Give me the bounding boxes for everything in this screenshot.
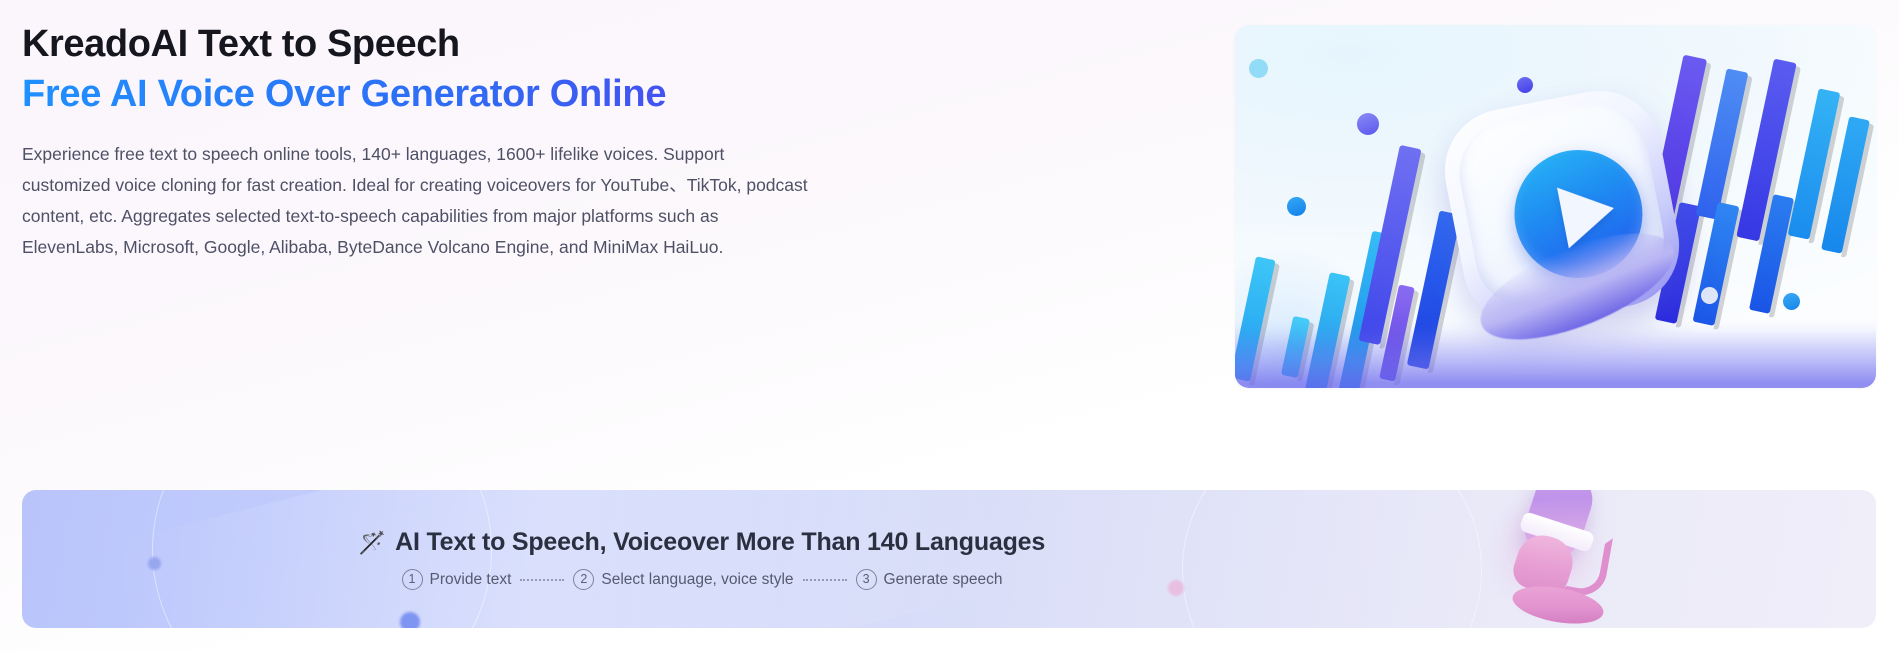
step-item-1: 1 Provide text [402, 569, 512, 590]
mic-head [1518, 490, 1600, 563]
step-number-2: 2 [573, 569, 594, 590]
languages-banner: 🪄 AI Text to Speech, Voiceover More Than… [22, 490, 1876, 628]
step-item-3: 3 Generate speech [856, 569, 1003, 590]
step-label-2: Select language, voice style [601, 571, 793, 589]
mic-body [1509, 529, 1580, 600]
decorative-dot [1517, 77, 1533, 93]
hero-copy: KreadoAI Text to Speech Free AI Voice Ov… [22, 22, 1172, 263]
step-number-1: 1 [402, 569, 423, 590]
decorative-dot [1249, 59, 1268, 78]
step-label-3: Generate speech [884, 571, 1003, 589]
mic-glow [1486, 492, 1606, 612]
banner-title-text: AI Text to Speech, Voiceover More Than 1… [395, 528, 1045, 557]
mic-arm [1559, 531, 1613, 600]
banner-content: 🪄 AI Text to Speech, Voiceover More Than… [22, 490, 1382, 628]
mic-band [1519, 511, 1596, 553]
step-item-2: 2 Select language, voice style [573, 569, 793, 590]
decorative-dot [1701, 287, 1718, 304]
hero-description: Experience free text to speech online to… [22, 139, 812, 263]
magic-wand-icon: 🪄 [359, 532, 386, 554]
decorative-dot [1287, 197, 1306, 216]
banner-title: 🪄 AI Text to Speech, Voiceover More Than… [359, 528, 1045, 557]
hero-illustration [1235, 25, 1876, 388]
microphone-illustration [1476, 490, 1676, 628]
hero-section: KreadoAI Text to Speech Free AI Voice Ov… [0, 0, 1899, 420]
step-separator [803, 579, 847, 581]
decorative-dot [1783, 293, 1800, 310]
mic-base [1510, 580, 1607, 628]
page-subtitle: Free AI Voice Over Generator Online [22, 71, 1172, 117]
steps-list: 1 Provide text 2 Select language, voice … [402, 569, 1003, 590]
decorative-dot [1357, 113, 1379, 135]
art-bottom-glow [1235, 326, 1876, 388]
step-number-3: 3 [856, 569, 877, 590]
page-title: KreadoAI Text to Speech [22, 22, 1172, 67]
play-button-graphic [1434, 80, 1690, 336]
step-label-1: Provide text [430, 571, 512, 589]
step-separator [520, 579, 564, 581]
